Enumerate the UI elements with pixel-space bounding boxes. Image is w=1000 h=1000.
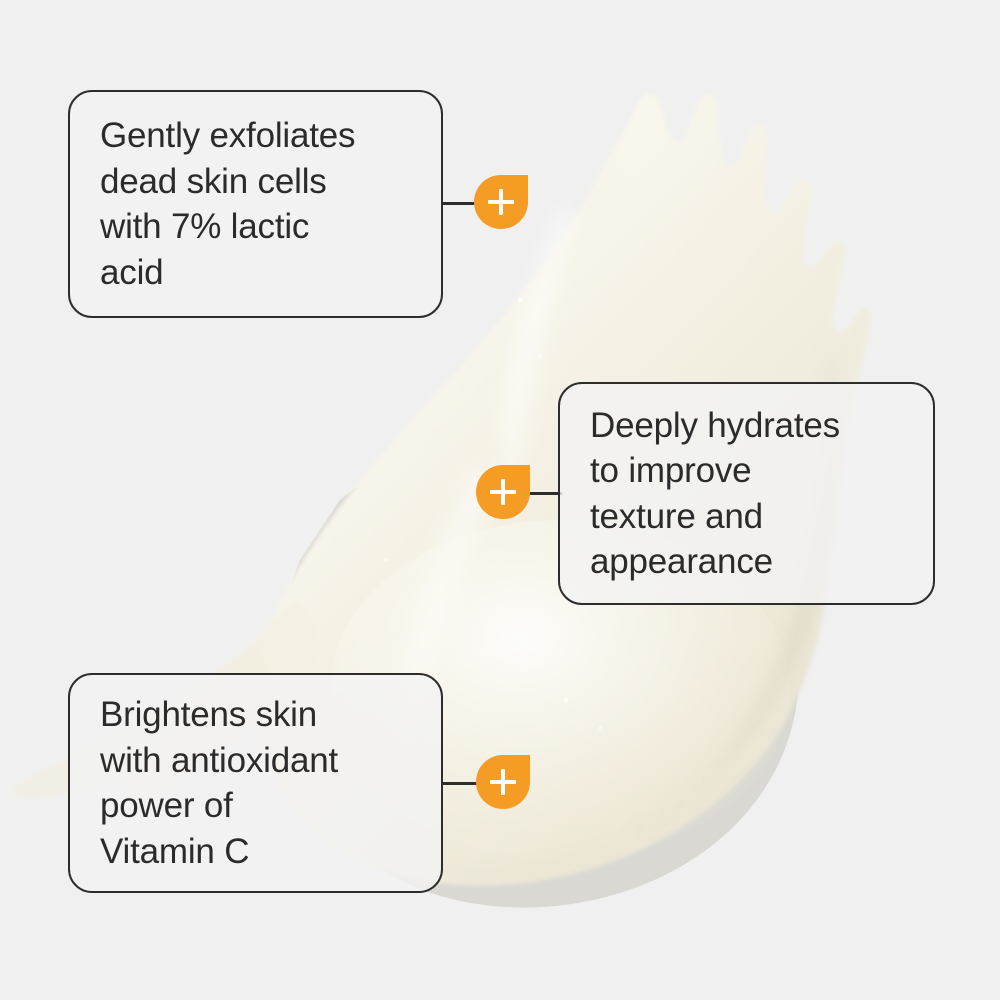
plus-icon [490,769,516,795]
callout-text-3: Brightens skin with antioxidant power of… [70,692,368,874]
callout-box-brightens[interactable]: Brightens skin with antioxidant power of… [68,673,443,893]
infographic-canvas: Gently exfoliates dead skin cells with 7… [0,0,1000,1000]
callout-box-hydrates[interactable]: Deeply hydrates to improve texture and a… [558,382,935,605]
connector-line-1 [441,202,477,205]
callout-text-1: Gently exfoliates dead skin cells with 7… [70,113,385,295]
plus-badge-2[interactable] [476,465,530,519]
callout-text-2: Deeply hydrates to improve texture and a… [560,403,870,585]
callout-box-exfoliates[interactable]: Gently exfoliates dead skin cells with 7… [68,90,443,318]
plus-icon [490,479,516,505]
connector-line-3 [441,782,479,785]
plus-badge-3[interactable] [476,755,530,809]
plus-badge-1[interactable] [474,175,528,229]
plus-icon [488,189,514,215]
